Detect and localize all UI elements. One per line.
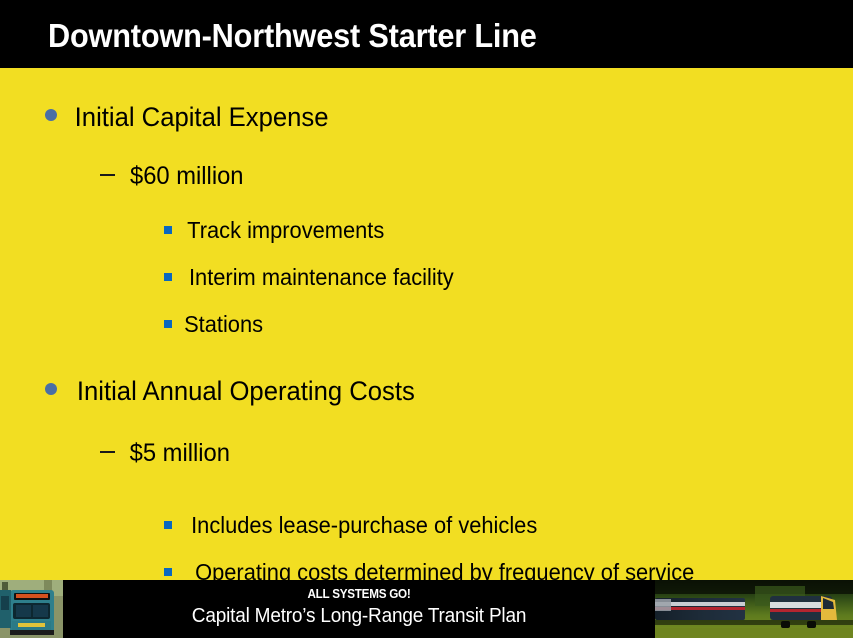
bullet-label: Track improvements xyxy=(187,217,384,244)
slide-title: Downtown-Northwest Starter Line xyxy=(48,17,537,55)
bullet-square-icon xyxy=(164,568,172,576)
bullet-item-level3: Operating costs determined by frequency … xyxy=(164,559,707,580)
slide-footer: ALL SYSTEMS GO! Capital Metro’s Long-Ran… xyxy=(0,580,853,638)
train-photo-graphic xyxy=(655,580,853,638)
bullet-square-icon xyxy=(164,273,172,281)
bullet-label: Operating costs determined by frequency … xyxy=(195,559,694,580)
bullet-label: Initial Annual Operating Costs xyxy=(77,376,415,407)
bullet-label: Includes lease-purchase of vehicles xyxy=(191,512,537,539)
bullet-item-level2: $5 million xyxy=(100,439,233,468)
bullet-item-level3: Interim maintenance facility xyxy=(164,264,461,291)
bullet-item-level1: Initial Annual Operating Costs xyxy=(45,376,424,407)
bullet-item-level3: Track improvements xyxy=(164,217,389,244)
bullet-label: $5 million xyxy=(130,439,230,468)
bullet-dash-icon xyxy=(100,174,115,176)
slide-body: Initial Capital Expense $60 million Trac… xyxy=(0,68,853,580)
bullet-dash-icon xyxy=(100,451,115,453)
bullet-label: Stations xyxy=(184,311,263,338)
footer-text-panel: ALL SYSTEMS GO! Capital Metro’s Long-Ran… xyxy=(63,580,655,638)
bullet-dot-icon xyxy=(45,109,57,121)
bullet-item-level2: $60 million xyxy=(100,162,247,191)
bus-photo xyxy=(0,580,63,638)
train-photo xyxy=(655,580,853,638)
bullet-item-level3: Includes lease-purchase of vehicles xyxy=(164,512,546,539)
bullet-square-icon xyxy=(164,320,172,328)
bullet-label: $60 million xyxy=(130,162,244,191)
bullet-label: Initial Capital Expense xyxy=(75,102,329,133)
bullet-dot-icon xyxy=(45,383,57,395)
bullet-label: Interim maintenance facility xyxy=(189,264,454,291)
footer-subtitle: Capital Metro’s Long-Range Transit Plan xyxy=(78,605,640,628)
bullet-square-icon xyxy=(164,226,172,234)
presentation-slide: Downtown-Northwest Starter Line Initial … xyxy=(0,0,853,638)
bullet-item-level1: Initial Capital Expense xyxy=(45,102,335,133)
bus-photo-graphic xyxy=(0,580,63,638)
bullet-item-level3: Stations xyxy=(164,311,265,338)
slide-title-bar: Downtown-Northwest Starter Line xyxy=(0,0,853,68)
footer-tagline: ALL SYSTEMS GO! xyxy=(93,586,626,601)
bullet-square-icon xyxy=(164,521,172,529)
